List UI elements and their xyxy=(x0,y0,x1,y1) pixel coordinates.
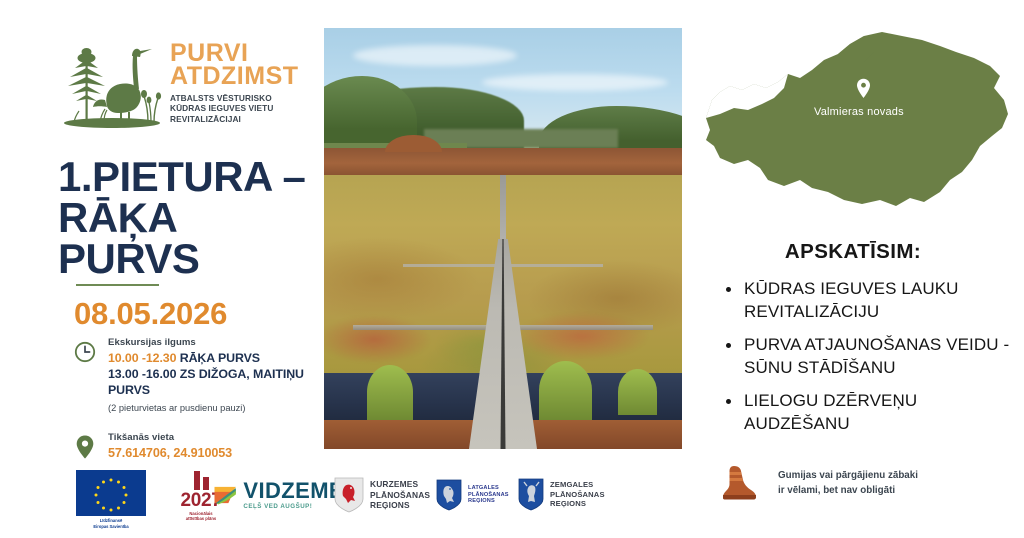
np-caption: Nacionālais attīstības plāns xyxy=(158,511,244,522)
duration-row: Ekskursijas ilgums 10.00 -12.30 RĀĶA PUR… xyxy=(74,337,314,414)
np-caption-line2: attīstības plāns xyxy=(158,516,244,521)
vidzeme-mark-icon xyxy=(212,478,238,512)
event-date: 08.05.2026 xyxy=(74,296,227,332)
latgale-line2: PLĀNOŠANAS xyxy=(468,492,509,499)
kurzeme-line3: REĢIONS xyxy=(370,500,430,511)
photo-cloud xyxy=(482,74,668,91)
latvia-map: Valmieras novads xyxy=(704,22,1016,212)
brand-text: PURVI ATDZIMST ATBALSTS VĒSTURISKO KŪDRA… xyxy=(170,42,300,124)
latgales-planosanas-regions-logo: LATGALES PLĀNOŠANAS REĢIONS xyxy=(436,479,509,511)
duration-note: (2 pieturvietas ar pusdienu pauzi) xyxy=(108,402,314,414)
photo-grass-tuft xyxy=(539,361,593,420)
eu-caption: Līdzfinansē Eiropas Savienība xyxy=(76,518,146,529)
photo-cloud xyxy=(353,45,518,66)
kurzemes-planosanas-regions-logo: KURZEMES PLĀNOŠANAS REĢIONS xyxy=(334,477,430,513)
photo-grass-tuft xyxy=(367,365,414,420)
zemgale-text: ZEMGALES PLĀNOŠANAS REĢIONS xyxy=(550,480,605,508)
duration-label: Ekskursijas ilgums xyxy=(108,337,314,350)
duration-slot-1-place: RĀĶA PURVS xyxy=(180,351,260,365)
eu-stars-icon xyxy=(76,470,146,516)
eu-flag-logo: Līdzfinansē Eiropas Savienība xyxy=(76,470,146,529)
kurzeme-text: KURZEMES PLĀNOŠANAS REĢIONS xyxy=(370,479,430,511)
vidzeme-slogan: CEĻŠ VED AUGŠUP! xyxy=(243,504,344,510)
zemgale-line2: PLĀNOŠANAS xyxy=(550,490,605,499)
brand-title-line2: ATDZIMST xyxy=(170,62,299,90)
partner-logo-strip: Līdzfinansē Eiropas Savienība 2027 Nacio… xyxy=(76,470,596,524)
zemgales-planosanas-regions-logo: ZEMGALES PLĀNOŠANAS REĢIONS xyxy=(518,478,605,511)
latgale-text: LATGALES PLĀNOŠANAS REĢIONS xyxy=(468,485,509,506)
rubber-boot-icon xyxy=(720,463,762,501)
divider xyxy=(76,284,159,286)
latgale-coat-of-arms-icon xyxy=(436,479,462,511)
latgale-line1: LATGALES xyxy=(468,485,509,492)
crane-bird-and-pine-logo-icon xyxy=(60,28,165,133)
latgale-line3: REĢIONS xyxy=(468,498,509,505)
boots-line2: ir vēlami, bet nav obligāti xyxy=(778,483,918,498)
duration-slot-1-time: 10.00 -12.30 xyxy=(108,351,176,365)
bog-boardwalk-photo xyxy=(324,28,682,449)
headline-line1: 1.PIETURA – xyxy=(58,153,305,200)
see-list: KŪDRAS IEGUVES LAUKU REVITALIZĀCIJU PURV… xyxy=(724,278,1024,446)
zemgale-line3: REĢIONS xyxy=(550,499,605,508)
page-title: 1.PIETURA – RĀĶA PURVS xyxy=(58,156,308,279)
kurzeme-coat-of-arms-icon xyxy=(334,477,364,513)
duration-slot-1: 10.00 -12.30 RĀĶA PURVS xyxy=(108,350,314,366)
photo-grass-tuft xyxy=(618,369,657,415)
list-item: KŪDRAS IEGUVES LAUKU REVITALIZĀCIJU xyxy=(724,278,1024,324)
meeting-label: Tikšanās vieta xyxy=(108,432,314,445)
brand-subtitle: ATBALSTS VĒSTURISKO KŪDRAS IEGUVES VIETU… xyxy=(170,93,300,124)
see-section-title: APSKATĪSIM: xyxy=(682,240,1024,264)
kurzeme-line1: KURZEMES xyxy=(370,479,430,490)
list-item: PURVA ATJAUNOŠANAS VEIDU - SŪNU STĀDĪŠAN… xyxy=(724,334,1024,380)
vidzeme-title: VIDZEME xyxy=(243,480,344,502)
photo-boardwalk-far xyxy=(500,175,506,242)
kurzeme-line2: PLĀNOŠANAS xyxy=(370,490,430,501)
zemgale-coat-of-arms-icon xyxy=(518,478,544,511)
location-pin-icon xyxy=(856,78,871,99)
brand-logo: PURVI ATDZIMST ATBALSTS VĒSTURISKO KŪDRA… xyxy=(60,28,300,136)
zemgale-line1: ZEMGALES xyxy=(550,480,605,489)
map-region-label: Valmieras novads xyxy=(814,106,904,118)
headline-line2: RĀĶA PURVS xyxy=(58,197,308,279)
boots-text: Gumijas vai pārgājienu zābaki ir vēlami,… xyxy=(778,468,918,498)
left-column: PURVI ATDZIMST ATBALSTS VĒSTURISKO KŪDRA… xyxy=(0,0,324,538)
eu-caption-line2: Eiropas Savienība xyxy=(76,524,146,530)
map-pin-icon xyxy=(74,434,98,460)
meeting-coordinates: 57.614706, 24.910053 xyxy=(108,445,314,462)
clock-icon xyxy=(74,339,98,365)
info-block: Ekskursijas ilgums 10.00 -12.30 RĀĶA PUR… xyxy=(74,337,314,474)
right-column: Valmieras novads APSKATĪSIM: KŪDRAS IEGU… xyxy=(682,0,1024,538)
meeting-row: Tikšanās vieta 57.614706, 24.910053 xyxy=(74,432,314,462)
vidzeme-text: VIDZEME CEĻŠ VED AUGŠUP! xyxy=(243,480,344,510)
vidzeme-logo: VIDZEME CEĻŠ VED AUGŠUP! xyxy=(212,478,344,512)
duration-slot-2: 13.00 -16.00 ZS DIŽOGA, MAITIŅU PURVS xyxy=(108,366,314,398)
list-item: LIELOGU DZĒRVEŅU AUDZĒŠANU xyxy=(724,390,1024,436)
event-poster: PURVI ATDZIMST ATBALSTS VĒSTURISKO KŪDRA… xyxy=(0,0,1024,538)
eu-flag-icon xyxy=(76,470,146,516)
boots-line1: Gumijas vai pārgājienu zābaki xyxy=(778,468,918,483)
